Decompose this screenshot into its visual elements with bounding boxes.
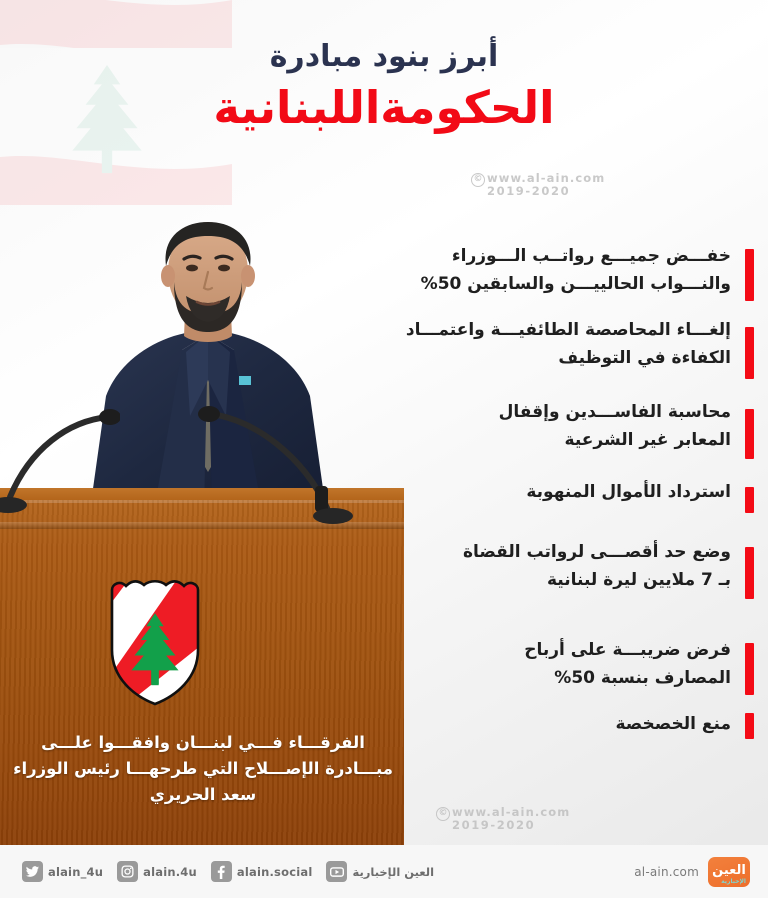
copyright-icon: © — [471, 173, 485, 187]
watermark-bottom: © www.al-ain.com 2019-2020 — [452, 806, 570, 832]
copyright-icon: © — [436, 807, 450, 821]
bullet-marker — [745, 643, 754, 695]
logo-main-text: العين — [712, 864, 746, 877]
social-handle: العين الإخبارية — [352, 865, 434, 879]
social-handle: alain_4u — [48, 865, 103, 879]
list-item: فرض ضريبـــة على أرباح المصارف بنسبة 50% — [298, 637, 768, 709]
footer: alain_4u alain.4u alain.social — [0, 845, 768, 898]
list-item: استرداد الأموال المنهوبة — [298, 479, 768, 537]
bullet-text: خفـــض جميـــع رواتــب الـــوزراء والنــ… — [298, 243, 731, 298]
bullet-marker — [745, 487, 754, 513]
bullet-marker — [745, 547, 754, 599]
instagram-icon[interactable] — [117, 861, 138, 882]
social-handle: alain.4u — [143, 865, 197, 879]
al-ain-logo[interactable]: العين الإخبارية — [708, 857, 750, 887]
header-kicker: أبرز بنود مبادرة — [0, 38, 768, 76]
watermark-top: © www.al-ain.com 2019-2020 — [487, 172, 605, 198]
microphone-left — [0, 405, 120, 525]
watermark-years: 2019-2020 — [487, 185, 605, 198]
social-link-youtube[interactable]: العين الإخبارية — [326, 861, 434, 882]
infographic-page: أبرز بنود مبادرة الحكومةاللبنانية © www.… — [0, 0, 768, 898]
bullet-marker — [745, 249, 754, 301]
bullet-marker — [745, 713, 754, 739]
brand-url[interactable]: al-ain.com — [634, 865, 699, 879]
watermark-url: www.al-ain.com — [452, 806, 570, 819]
brand-block: al-ain.com العين الإخبارية — [634, 857, 750, 887]
list-item: خفـــض جميـــع رواتــب الـــوزراء والنــ… — [298, 243, 768, 315]
bullet-marker — [745, 327, 754, 379]
list-item: محاسبة الفاســـدين وإقفال المعابر غير ال… — [298, 399, 768, 477]
bullet-text: محاسبة الفاســـدين وإقفال المعابر غير ال… — [298, 399, 731, 454]
social-link-instagram[interactable]: alain.4u — [117, 861, 197, 882]
list-item: وضع حد أقصـــى لرواتب القضاة بـ 7 ملايين… — [298, 539, 768, 635]
youtube-icon[interactable] — [326, 861, 347, 882]
bullet-text: منع الخصخصة — [298, 711, 731, 739]
bullet-list: خفـــض جميـــع رواتــب الـــوزراء والنــ… — [298, 243, 768, 753]
social-link-facebook[interactable]: alain.social — [211, 861, 313, 882]
list-item: إلغـــاء المحاصصة الطائفيـــة واعتمـــاد… — [298, 317, 768, 397]
list-item: منع الخصخصة — [298, 711, 768, 751]
facebook-icon[interactable] — [211, 861, 232, 882]
bullet-text: استرداد الأموال المنهوبة — [298, 479, 731, 507]
bullet-text: فرض ضريبـــة على أرباح المصارف بنسبة 50% — [298, 637, 731, 692]
social-link-twitter[interactable]: alain_4u — [22, 861, 103, 882]
watermark-years: 2019-2020 — [452, 819, 570, 832]
lebanon-coat-of-arms — [102, 578, 208, 706]
bullet-text: إلغـــاء المحاصصة الطائفيـــة واعتمـــاد… — [298, 317, 731, 372]
watermark-url: www.al-ain.com — [487, 172, 605, 185]
twitter-icon[interactable] — [22, 861, 43, 882]
bullet-text: وضع حد أقصـــى لرواتب القضاة بـ 7 ملايين… — [298, 539, 731, 594]
social-handle: alain.social — [237, 865, 313, 879]
logo-sub-text: الإخبارية — [721, 879, 746, 885]
bullet-marker — [745, 409, 754, 459]
social-links: alain_4u alain.4u alain.social — [22, 861, 434, 882]
header-headline: الحكومةاللبنانية — [0, 82, 768, 134]
header: أبرز بنود مبادرة الحكومةاللبنانية — [0, 38, 768, 133]
